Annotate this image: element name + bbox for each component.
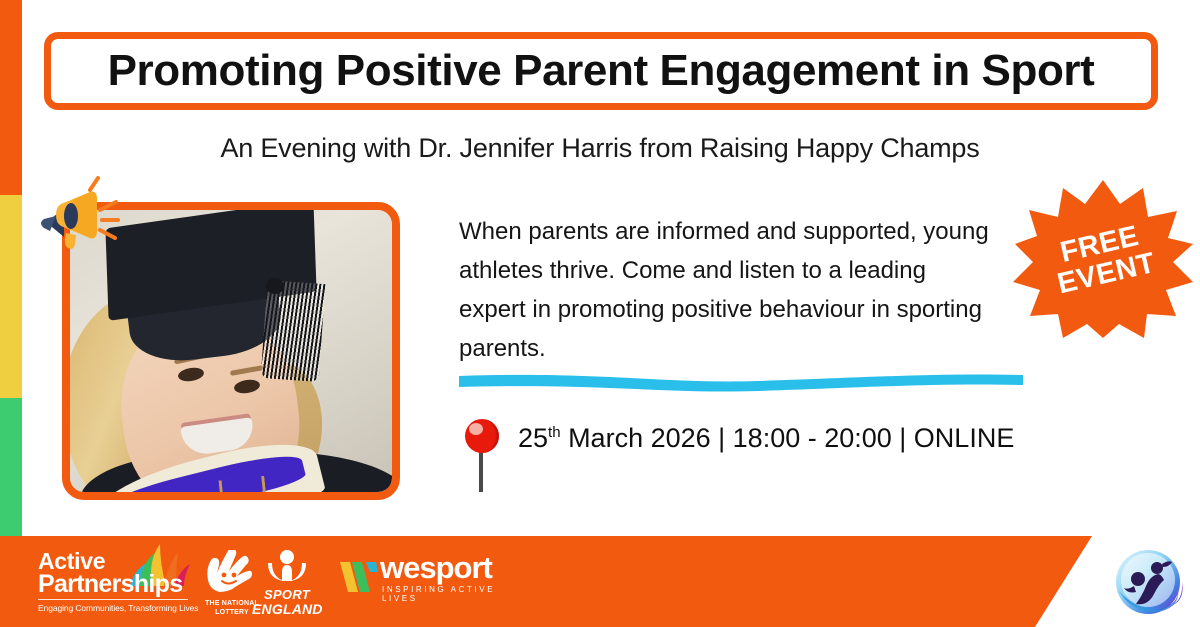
graduation-tassel-knot xyxy=(266,278,284,294)
title-box: Promoting Positive Parent Engagement in … xyxy=(44,32,1158,110)
graduation-tassel xyxy=(261,280,326,382)
logo-active-partnerships: Active Partnerships Engaging Communities… xyxy=(38,551,188,613)
edge-stripe-orange xyxy=(0,0,22,195)
body-text: When parents are informed and supported,… xyxy=(459,212,999,368)
event-date-rest: March 2026 | 18:00 - 20:00 | ONLINE xyxy=(561,423,1015,453)
event-day: 25 xyxy=(518,423,548,453)
event-details: 25th March 2026 | 18:00 - 20:00 | ONLINE xyxy=(462,408,1022,494)
event-datetime-text: 25th March 2026 | 18:00 - 20:00 | ONLINE xyxy=(518,408,1014,494)
logo-sport-england: SPORT ENGLAND xyxy=(252,549,322,617)
event-day-suffix: th xyxy=(548,424,561,441)
free-event-badge: FREE EVENT xyxy=(1013,178,1193,340)
partner-circle-logo xyxy=(1112,546,1184,618)
sport-england-line-2: ENGLAND xyxy=(252,602,322,617)
edge-stripe-yellow xyxy=(0,195,22,398)
sport-england-line-1: SPORT xyxy=(252,588,322,602)
active-partnerships-word-2: Partnerships xyxy=(38,572,188,596)
location-pin-icon xyxy=(462,410,506,494)
wesport-mark-icon xyxy=(338,556,384,596)
logo-wesport: wesport INSPIRING ACTIVE LIVES xyxy=(338,552,498,603)
wesport-tagline: INSPIRING ACTIVE LIVES xyxy=(382,585,498,603)
event-poster: Promoting Positive Parent Engagement in … xyxy=(0,0,1200,627)
page-title: Promoting Positive Parent Engagement in … xyxy=(108,49,1095,93)
wesport-wordmark: wesport xyxy=(380,552,498,584)
active-partnerships-word-1: Active xyxy=(38,551,188,572)
subtitle: An Evening with Dr. Jennifer Harris from… xyxy=(0,133,1200,164)
blue-underline-divider xyxy=(457,370,1025,392)
megaphone-icon xyxy=(28,176,120,268)
active-partnerships-tagline: Engaging Communities, Transforming Lives xyxy=(38,599,188,613)
sport-england-icon xyxy=(252,549,322,583)
